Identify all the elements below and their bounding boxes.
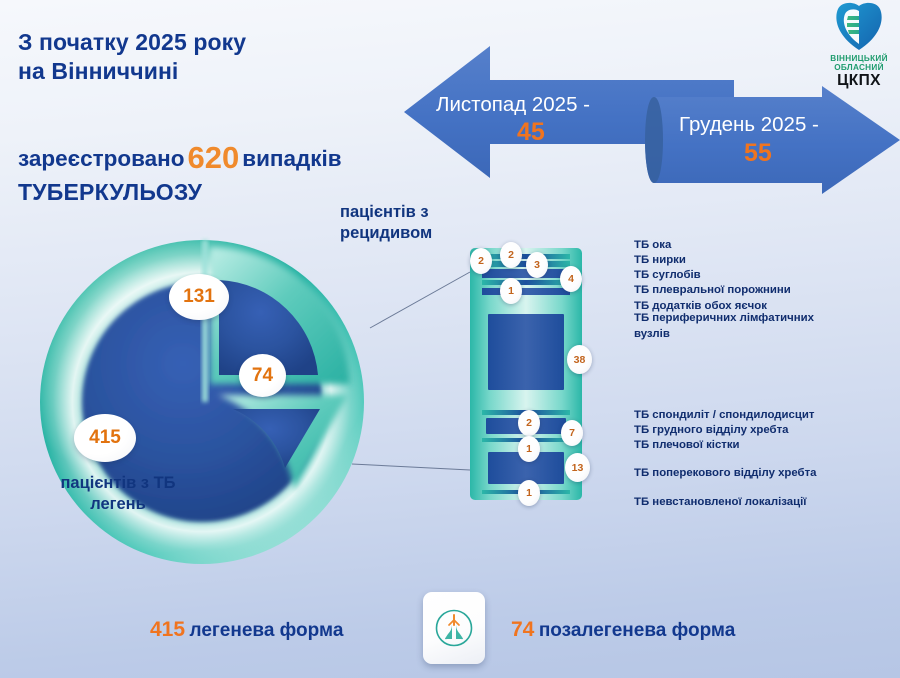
infographic-canvas: З початку 2025 року на Вінниччині зареєс…: [0, 0, 900, 678]
legend-item-0: ТБ ока: [634, 238, 896, 253]
legend-item-3: ТБ плевральної порожнини: [634, 283, 896, 298]
legend-group-top: ТБ окаТБ ниркиТБ суглобівТБ плевральної …: [634, 238, 896, 314]
pie-label-recidiv-line-1: пацієнтів з: [340, 202, 500, 223]
pie-value-74: 74: [239, 354, 286, 397]
footer-extrapulmonary-text: позалегенева форма: [539, 620, 736, 641]
legend-item-1: вузлів: [634, 327, 900, 343]
stacked-bar-badge-8: 1: [518, 436, 540, 462]
footer-pulmonary-text: легенева форма: [190, 620, 344, 641]
stacked-bar-chart: 2234138271131: [468, 248, 586, 500]
legend-item-3: ТБ поперекового відділу хребта: [634, 466, 900, 481]
stacked-bar-badge-3: 4: [560, 266, 582, 292]
pie-value-415: 415: [74, 414, 136, 462]
legend-group-low: ТБ спондиліт / спондилодисцитТБ грудного…: [634, 408, 900, 510]
pie-value-131: 131: [169, 274, 229, 320]
stacked-bar-badge-6: 2: [518, 410, 540, 436]
legend-item-1: ТБ грудного відділу хребта: [634, 423, 900, 438]
pie-label-lungs-line-1: пацієнтів з ТБ: [28, 473, 208, 494]
stacked-bar-badge-0: 2: [470, 248, 492, 274]
pie-label-recidiv: пацієнтів з рецидивом: [340, 202, 500, 244]
legend-item-2: ТБ суглобів: [634, 268, 896, 283]
pie-label-recidiv-line-2: рецидивом: [340, 223, 500, 244]
legend-item-0: ТБ периферичних лімфатичних: [634, 311, 900, 327]
footer-extrapulmonary: 74 позалегенева форма: [511, 618, 735, 642]
stacked-bar-badge-9: 13: [565, 453, 590, 482]
footer-pulmonary: 415 легенева форма: [150, 618, 343, 642]
pie-label-lungs-line-2: легень: [28, 494, 208, 515]
pie-chart: 415 131 74: [32, 232, 372, 572]
legend-item-2: ТБ плечової кістки: [634, 438, 900, 453]
footer-pulmonary-number: 415: [150, 618, 185, 641]
lungs-icon: [423, 592, 485, 664]
stacked-bar-badge-2: 3: [526, 252, 548, 278]
stacked-bar-badge-1: 2: [500, 242, 522, 268]
stacked-bar-badge-4: 1: [500, 278, 522, 304]
stacked-bar-badge-7: 7: [561, 420, 583, 446]
legend-group-mid: ТБ периферичних лімфатичнихвузлів: [634, 311, 900, 342]
stacked-bar-badge-10: 1: [518, 480, 540, 506]
legend-item-1: ТБ нирки: [634, 253, 896, 268]
legend-item-4: ТБ невстановленої локалізації: [634, 495, 900, 510]
legend-item-0: ТБ спондиліт / спондилодисцит: [634, 408, 900, 423]
footer-extrapulmonary-number: 74: [511, 618, 534, 641]
pie-label-lungs: пацієнтів з ТБ легень: [28, 473, 208, 516]
stacked-bar-badge-5: 38: [567, 345, 592, 374]
